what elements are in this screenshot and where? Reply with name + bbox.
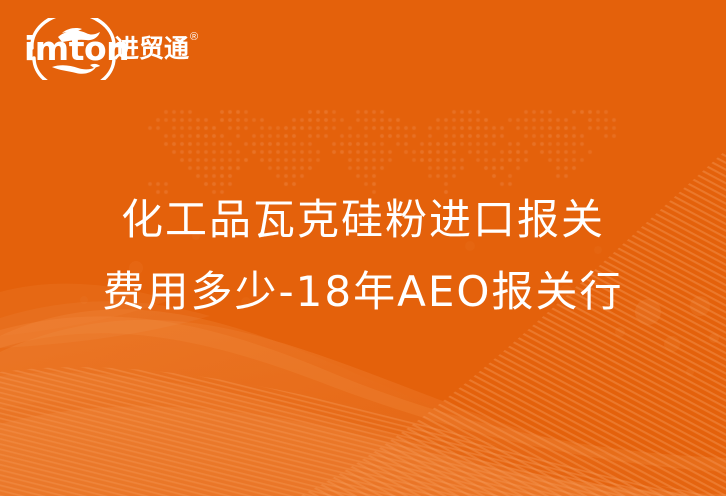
wave-valley <box>0 400 726 496</box>
logo-chinese-name: 进贸通 <box>114 36 189 61</box>
wave-crescent <box>0 309 726 496</box>
diagonal-striations-bottom <box>0 360 726 496</box>
wave-bottom-left-highlight <box>0 372 726 496</box>
registered-trademark-icon: ® <box>190 32 198 43</box>
headline-line-1: 化工品瓦克硅粉进口报关 <box>0 184 726 256</box>
brand-logo[interactable]: imton 进贸通 ® <box>18 18 228 80</box>
wave-arc-light <box>0 406 726 496</box>
wave-diagonal-edge <box>0 316 726 472</box>
promo-banner: imton 进贸通 ® 化工品瓦克硅粉进口报关 费用多少-18年AEO报关行 <box>0 0 726 496</box>
wave-primary <box>0 320 726 496</box>
headline: 化工品瓦克硅粉进口报关 费用多少-18年AEO报关行 <box>0 184 726 328</box>
headline-line-2: 费用多少-18年AEO报关行 <box>0 256 726 328</box>
